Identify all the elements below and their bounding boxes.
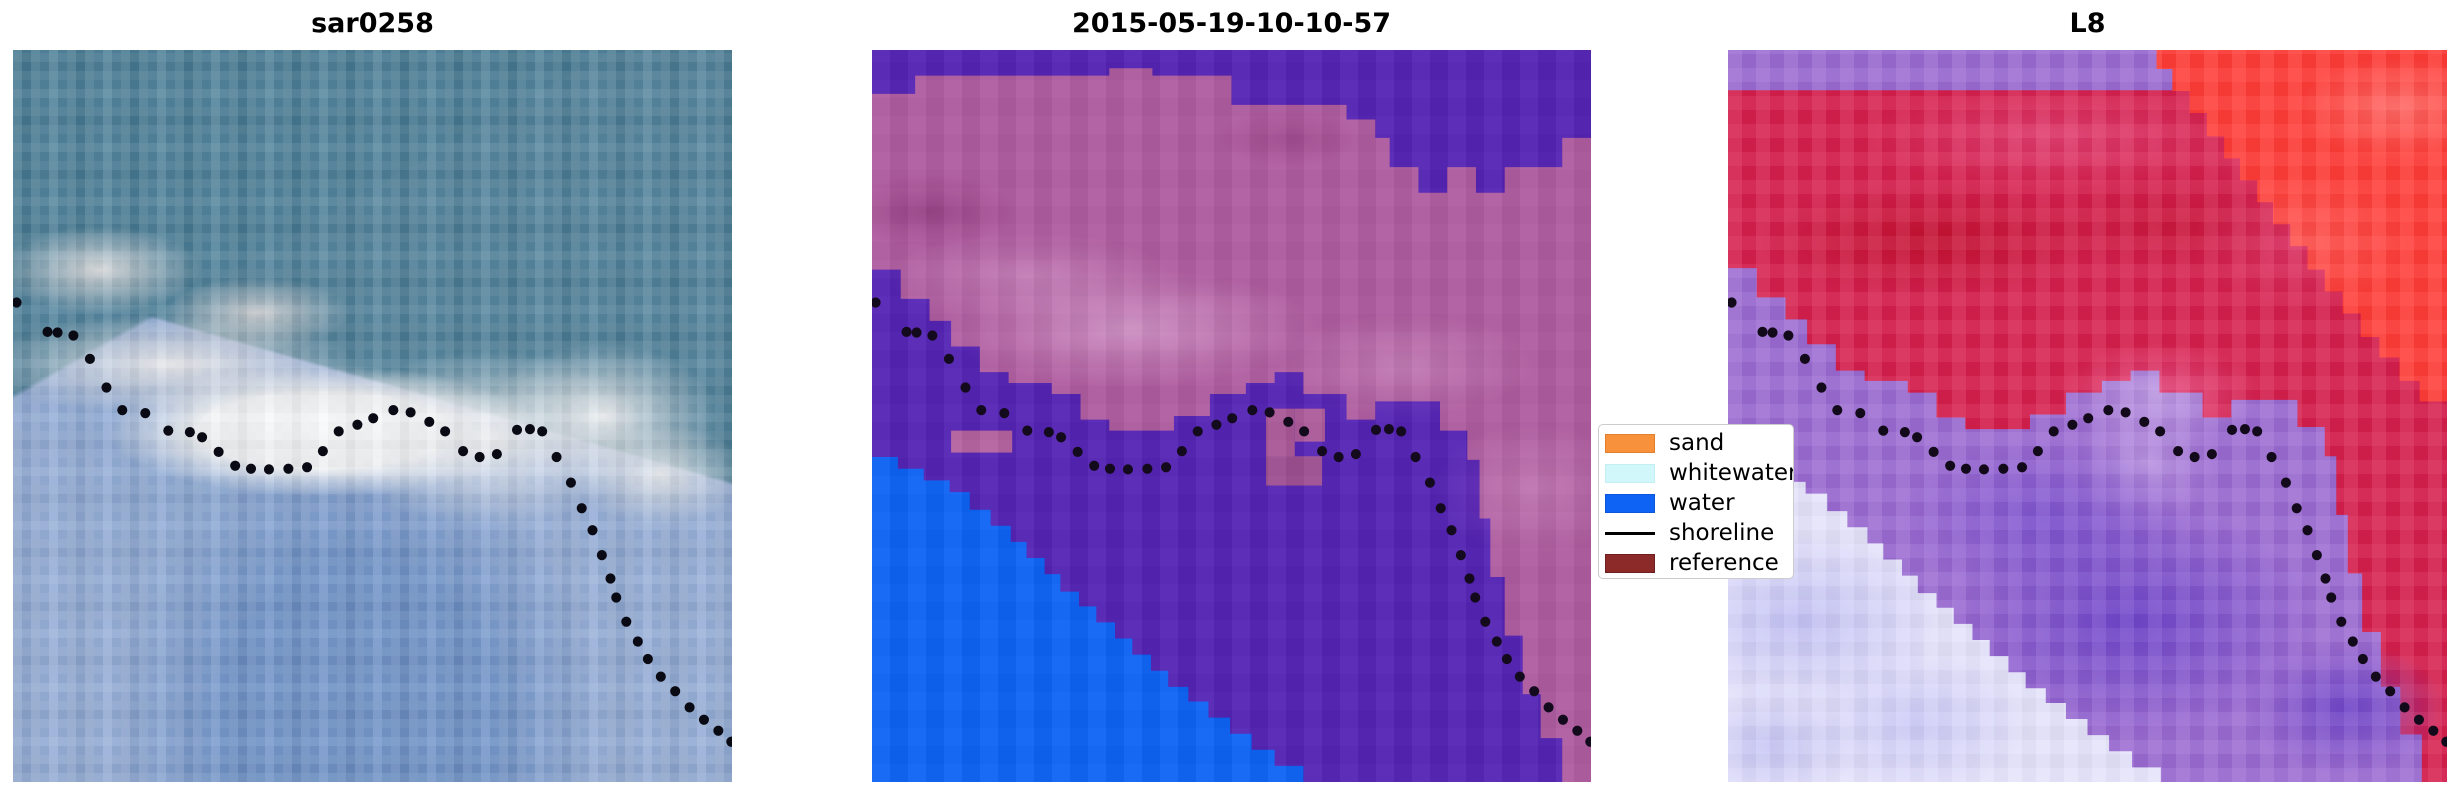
- classification-panel: [872, 50, 1591, 782]
- legend-label-whitewater: whitewater: [1669, 462, 1794, 485]
- l8-panel: [1728, 50, 2447, 782]
- panel-title-classification: 2015-05-19-10-10-57: [872, 10, 1591, 37]
- legend-item-whitewater: whitewater: [1605, 459, 1794, 487]
- figure-canvas: sar0258: [0, 0, 2460, 796]
- legend-label-sand: sand: [1669, 432, 1724, 455]
- legend-label-water: water: [1669, 492, 1735, 515]
- legend-line-shoreline: [1605, 524, 1655, 543]
- shoreline-overlay-classification: [872, 50, 1591, 782]
- legend-item-reference: reference: [1605, 549, 1779, 577]
- legend-item-shoreline: shoreline: [1605, 519, 1774, 547]
- sar-panel: [13, 50, 732, 782]
- shoreline-line-icon: [1605, 532, 1655, 535]
- legend-item-sand: sand: [1605, 429, 1724, 457]
- map-legend: sand whitewater water shoreline referenc…: [1598, 424, 1794, 579]
- shoreline-overlay-sar: [13, 50, 732, 782]
- panel-title-sar: sar0258: [13, 10, 732, 37]
- legend-label-reference: reference: [1669, 552, 1779, 575]
- shoreline-overlay-l8: [1728, 50, 2447, 782]
- legend-item-water: water: [1605, 489, 1735, 517]
- legend-label-shoreline: shoreline: [1669, 522, 1774, 545]
- legend-swatch-reference: [1605, 554, 1655, 573]
- panel-title-l8: L8: [1728, 10, 2447, 37]
- legend-swatch-water: [1605, 494, 1655, 513]
- legend-swatch-sand: [1605, 434, 1655, 453]
- legend-swatch-whitewater: [1605, 464, 1655, 483]
